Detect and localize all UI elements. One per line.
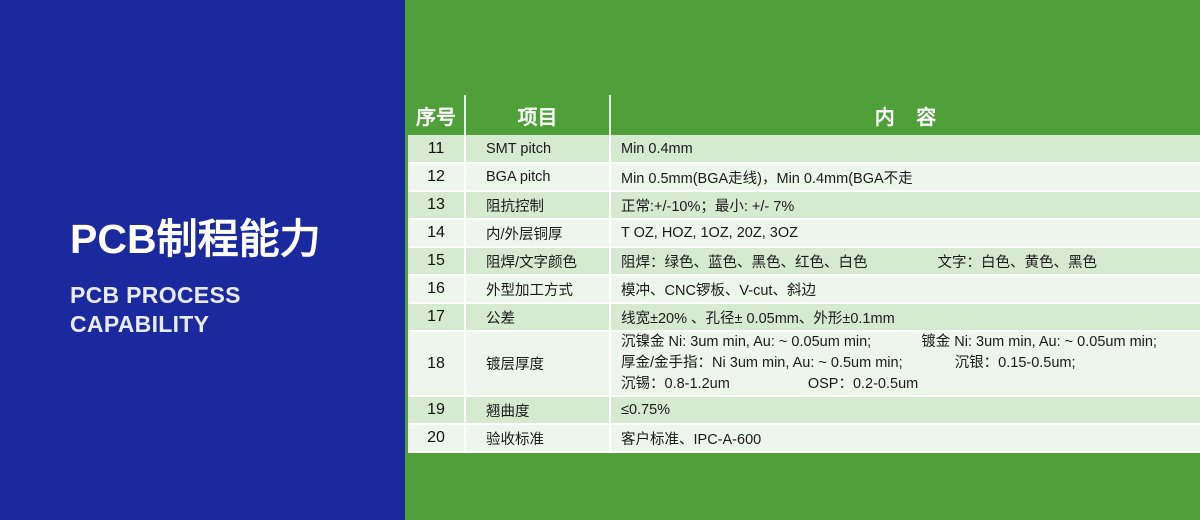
row-number: 11 [408,135,465,163]
table-row: 15 阻焊/文字颜色 阻焊：绿色、蓝色、黑色、红色、白色 文字：白色、黄色、黑色 [408,247,1200,275]
row-number: 18 [408,331,465,396]
row-number: 13 [408,191,465,219]
plating-enig-label: 沉镍金 Ni: 3um min, Au: ~ 0.05um min; [621,334,871,350]
table-row: 11 SMT pitch Min 0.4mm [408,135,1200,163]
row-content: Min 0.5mm(BGA走线)，Min 0.4mm(BGA不走 [610,163,1200,191]
row-number: 20 [408,424,465,452]
header-row: 序号 项目 内 容 [408,95,1200,135]
row-content: 正常:+/-10%；最小: +/- 7% [610,191,1200,219]
column-header-item: 项目 [465,95,610,135]
column-header-content: 内 容 [610,95,1200,135]
row-content: T OZ, HOZ, 1OZ, 20Z, 3OZ [610,219,1200,247]
row-item: 阻焊/文字颜色 [465,247,610,275]
content-line-3: 沉锡：0.8-1.2um OSP：0.2-0.5um [621,374,1200,395]
row-content-secondary: 文字：白色、黄色、黑色 [938,251,1098,272]
row-content: ≤0.75% [610,396,1200,424]
title-block: PCB制程能力 PCB PROCESS CAPABILITY [70,218,400,340]
table-row: 18 镀层厚度 沉镍金 Ni: 3um min, Au: ~ 0.05um mi… [408,331,1200,396]
row-content: 阻焊：绿色、蓝色、黑色、红色、白色 文字：白色、黄色、黑色 [610,247,1200,275]
plating-gold-label: 镀金 Ni: 3um min, Au: ~ 0.05um min; [921,334,1157,350]
subtitle-line-2: CAPABILITY [70,310,400,339]
table-row: 19 翘曲度 ≤0.75% [408,396,1200,424]
row-number: 17 [408,303,465,331]
column-header-no: 序号 [408,95,465,135]
pcb-capability-table: 序号 项目 内 容 11 SMT pitch Min 0.4mm 12 BGA … [408,95,1200,453]
table-row: 20 验收标准 客户标准、IPC-A-600 [408,424,1200,452]
table-row: 17 公差 线宽±20% 、孔径± 0.05mm、外形±0.1mm [408,303,1200,331]
row-number: 12 [408,163,465,191]
plating-tin-label: 沉锡：0.8-1.2um [621,376,730,392]
plating-silver-label: 沉银：0.15-0.5um; [955,355,1076,371]
row-item: 外型加工方式 [465,275,610,303]
content-line-2: 厚金/金手指：Ni 3um min, Au: ~ 0.5um min; 沉银：0… [621,353,1200,374]
row-number: 14 [408,219,465,247]
row-item: 阻抗控制 [465,191,610,219]
table-body: 11 SMT pitch Min 0.4mm 12 BGA pitch Min … [408,135,1200,452]
row-item: BGA pitch [465,163,610,191]
plating-osp-label: OSP：0.2-0.5um [808,376,918,392]
left-blue-panel: PCB制程能力 PCB PROCESS CAPABILITY [0,0,405,520]
spec-table-container: 序号 项目 内 容 11 SMT pitch Min 0.4mm 12 BGA … [408,95,1200,453]
row-content: Min 0.4mm [610,135,1200,163]
row-content: 模冲、CNC锣板、V-cut、斜边 [610,275,1200,303]
row-item: 翘曲度 [465,396,610,424]
table-row: 13 阻抗控制 正常:+/-10%；最小: +/- 7% [408,191,1200,219]
row-content: 沉镍金 Ni: 3um min, Au: ~ 0.05um min; 镀金 Ni… [610,331,1200,396]
row-item: 内/外层铜厚 [465,219,610,247]
page-title-chinese: PCB制程能力 [70,218,400,261]
table-row: 14 内/外层铜厚 T OZ, HOZ, 1OZ, 20Z, 3OZ [408,219,1200,247]
table-row: 16 外型加工方式 模冲、CNC锣板、V-cut、斜边 [408,275,1200,303]
slide-canvas: PCB制程能力 PCB PROCESS CAPABILITY 序号 项目 内 容 [0,0,1200,520]
row-content-primary: 阻焊：绿色、蓝色、黑色、红色、白色 [621,251,868,272]
plating-thickgold-label: 厚金/金手指：Ni 3um min, Au: ~ 0.5um min; [621,355,903,371]
row-number: 19 [408,396,465,424]
content-line-1: 沉镍金 Ni: 3um min, Au: ~ 0.05um min; 镀金 Ni… [621,332,1200,353]
row-number: 16 [408,275,465,303]
table-row: 12 BGA pitch Min 0.5mm(BGA走线)，Min 0.4mm(… [408,163,1200,191]
page-subtitle-english: PCB PROCESS CAPABILITY [70,281,400,340]
row-number: 15 [408,247,465,275]
row-item: 公差 [465,303,610,331]
row-content: 客户标准、IPC-A-600 [610,424,1200,452]
row-item: 镀层厚度 [465,331,610,396]
table-header: 序号 项目 内 容 [408,95,1200,135]
row-item: SMT pitch [465,135,610,163]
subtitle-line-1: PCB PROCESS [70,281,400,310]
row-item: 验收标准 [465,424,610,452]
row-content: 线宽±20% 、孔径± 0.05mm、外形±0.1mm [610,303,1200,331]
